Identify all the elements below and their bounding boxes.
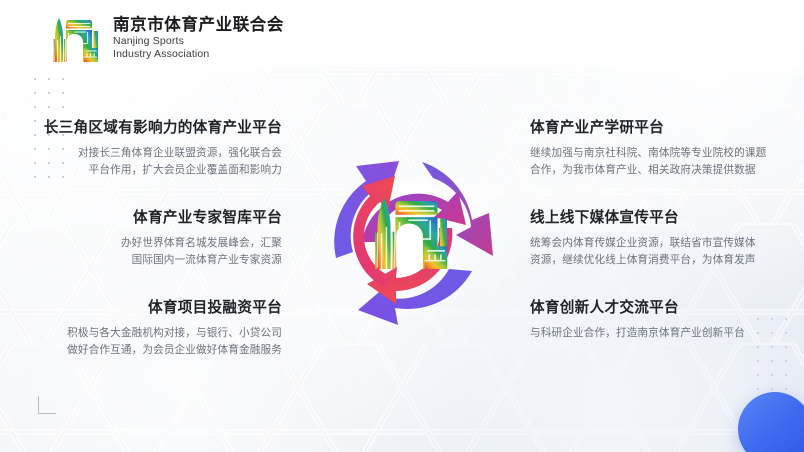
brand-logo: 南京市体育产业联合会 Nanjing Sports Industry Assoc…: [46, 12, 284, 64]
platform-block: 线上线下媒体宣传平台统筹会内体育传媒企业资源，联结省市宣传媒体资源，继续优化线上…: [530, 208, 798, 268]
dot: [785, 388, 787, 390]
right-text-column: 体育产业产学研平台继续加强与南京社科院、南体院等专业院校的课题合作，为我市体育产…: [530, 118, 798, 372]
platform-description-line: 资源，继续优化线上体育消费平台，为体育发声: [530, 252, 798, 269]
platform-description-line: 对接长三角体育企业联盟资源，强化联合会: [0, 145, 282, 162]
platform-title: 体育产业产学研平台: [530, 118, 798, 138]
platform-title: 线上线下媒体宣传平台: [530, 208, 798, 228]
circular-arrows-nanjing-gate-icon: [300, 104, 515, 366]
left-text-column: 长三角区域有影响力的体育产业平台对接长三角体育企业联盟资源，强化联合会平台作用，…: [0, 118, 282, 388]
platform-title: 体育产业专家智库平台: [0, 208, 282, 228]
platform-block: 体育产业专家智库平台办好世界体育名城发展峰会，汇聚国际国内一流体育产业专家资源: [0, 208, 282, 268]
platform-description: 积极与各大金融机构对接，与银行、小贷公司做好合作互通，为会员企业做好体育金融服务: [0, 325, 282, 358]
platform-description: 统筹会内体育传媒企业资源，联结省市宣传媒体资源，继续优化线上体育消费平台，为体育…: [530, 235, 798, 268]
platform-description-line: 做好合作互通，为会员企业做好体育金融服务: [0, 342, 282, 359]
brand-text: 南京市体育产业联合会 Nanjing Sports Industry Assoc…: [113, 16, 284, 60]
dot: [48, 92, 50, 94]
platform-block: 体育创新人才交流平台与科研企业合作，打造南京体育产业创新平台: [530, 298, 798, 342]
blue-sphere-decor: [738, 392, 804, 452]
platform-description: 继续加强与南京社科院、南体院等专业院校的课题合作，为我市体育产业、相关政府决策提…: [530, 145, 798, 178]
platform-description-line: 统筹会内体育传媒企业资源，联结省市宣传媒体: [530, 235, 798, 252]
dot: [34, 92, 36, 94]
corner-bracket-icon: [38, 396, 56, 414]
platform-description-line: 积极与各大金融机构对接，与银行、小贷公司: [0, 325, 282, 342]
brand-name-en-line1: Nanjing Sports: [113, 35, 284, 47]
platform-description-line: 合作，为我市体育产业、相关政府决策提供数据: [530, 162, 798, 179]
dot: [62, 106, 64, 108]
platform-description-line: 办好世界体育名城发展峰会，汇聚: [0, 235, 282, 252]
dot: [771, 374, 773, 376]
dot: [785, 374, 787, 376]
platform-block: 体育项目投融资平台积极与各大金融机构对接，与银行、小贷公司做好合作互通，为会员企…: [0, 298, 282, 358]
platform-description-line: 继续加强与南京社科院、南体院等专业院校的课题: [530, 145, 798, 162]
platform-title: 体育创新人才交流平台: [530, 298, 798, 318]
platform-description-line: 平台作用，扩大会员企业覆盖面和影响力: [0, 162, 282, 179]
platform-title: 长三角区域有影响力的体育产业平台: [0, 118, 282, 138]
platform-description: 与科研企业合作，打造南京体育产业创新平台: [530, 325, 798, 342]
platform-description-line: 与科研企业合作，打造南京体育产业创新平台: [530, 325, 798, 342]
dot: [62, 92, 64, 94]
dot: [757, 374, 759, 376]
dot: [48, 106, 50, 108]
dot: [48, 78, 50, 80]
dot: [771, 388, 773, 390]
dot: [62, 78, 64, 80]
platform-title: 体育项目投融资平台: [0, 298, 282, 318]
dot: [757, 388, 759, 390]
brand-name-cn: 南京市体育产业联合会: [113, 16, 284, 35]
brand-name-en-line2: Industry Association: [113, 48, 284, 60]
nanjing-gate-logo-icon: [46, 12, 102, 64]
platform-description-line: 国际国内一流体育产业专家资源: [0, 252, 282, 269]
dot: [34, 106, 36, 108]
platform-block: 体育产业产学研平台继续加强与南京社科院、南体院等专业院校的课题合作，为我市体育产…: [530, 118, 798, 178]
slide-canvas: 南京市体育产业联合会 Nanjing Sports Industry Assoc…: [0, 0, 804, 452]
platform-description: 对接长三角体育企业联盟资源，强化联合会平台作用，扩大会员企业覆盖面和影响力: [0, 145, 282, 178]
platform-block: 长三角区域有影响力的体育产业平台对接长三角体育企业联盟资源，强化联合会平台作用，…: [0, 118, 282, 178]
platform-description: 办好世界体育名城发展峰会，汇聚国际国内一流体育产业专家资源: [0, 235, 282, 268]
dot: [34, 78, 36, 80]
